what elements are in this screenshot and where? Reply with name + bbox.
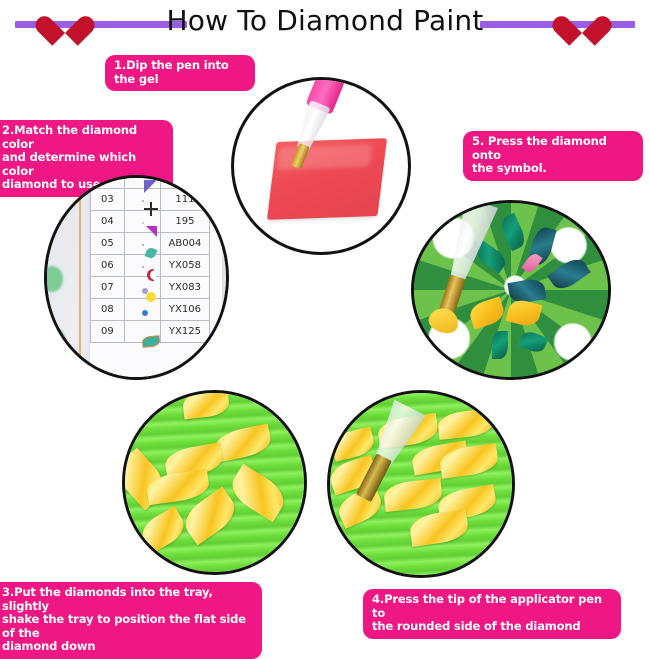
chart-row-code: YX058 — [160, 255, 209, 277]
gem — [506, 297, 543, 328]
chart-margin-rule — [226, 175, 228, 380]
page-header: How To Diamond Paint — [0, 0, 650, 50]
step-5-photo — [411, 200, 611, 380]
table-row: 02093 — [91, 175, 210, 189]
crescent-red-icon — [124, 255, 160, 277]
color-chart-sheet: 02093031110419505AB00406YX05807YX08308YX… — [90, 175, 222, 380]
chart-row-number: 08 — [91, 299, 125, 321]
chart-row-code: YX106 — [160, 299, 209, 321]
chart-row-number: 02 — [91, 175, 125, 189]
chart-row-code: YX083 — [160, 277, 209, 299]
diamond-tray — [122, 390, 307, 575]
chart-row-number: 05 — [91, 233, 125, 255]
chart-row-number: 04 — [91, 211, 125, 233]
color-code-table: 02093031110419505AB00406YX05807YX08308YX… — [90, 175, 210, 343]
diamond — [225, 464, 291, 523]
step-2-photo: 02093031110419505AB00406YX05807YX08308YX… — [44, 175, 229, 380]
dot-yellow-icon — [124, 277, 160, 299]
infographic-canvas: How To Diamond Paint 1.Dip the pen into … — [0, 0, 650, 650]
pen-tip — [291, 143, 310, 169]
step-4-label: 4.Press the tip of the applicator pen to… — [363, 589, 621, 639]
diamond — [182, 390, 230, 419]
step-1-photo — [231, 77, 411, 255]
step-3-label: 3.Put the diamonds into the tray, slight… — [0, 582, 262, 659]
table-row: 09YX125 — [91, 321, 210, 343]
chart-row-number: 06 — [91, 255, 125, 277]
chart-row-number: 07 — [91, 277, 125, 299]
chart-row-code: YX125 — [160, 321, 209, 343]
chart-row-code: AB004 — [160, 233, 209, 255]
diamond — [408, 509, 470, 547]
pen-tip — [356, 453, 392, 502]
chart-margin-rule — [79, 175, 81, 380]
step-3-photo — [122, 390, 307, 575]
held-diamond — [426, 305, 462, 337]
green-blob-icon — [44, 266, 63, 292]
heart-icon — [564, 4, 600, 37]
chart-row-number: 09 — [91, 321, 125, 343]
table-row: 08YX106 — [91, 299, 210, 321]
chart-row-code: 093 — [160, 175, 209, 189]
chart-row-code: 111 — [160, 189, 209, 211]
green-blob-icon — [45, 328, 65, 350]
diamond — [136, 506, 189, 554]
gem — [467, 296, 507, 329]
diamond — [437, 408, 495, 440]
gem — [518, 329, 549, 355]
triangle-violet-icon — [124, 175, 160, 189]
leaf-teal-icon — [124, 321, 160, 343]
triangle-magenta-icon — [124, 211, 160, 233]
step-5-label: 5. Press the diamond onto the symbol. — [463, 131, 643, 181]
gem — [492, 331, 508, 359]
step-4-photo — [327, 390, 515, 578]
chart-row-code: 195 — [160, 211, 209, 233]
chart-row-number: 03 — [91, 189, 125, 211]
gem — [547, 254, 591, 294]
ring-blue-icon — [124, 299, 160, 321]
step-1-label: 1.Dip the pen into the gel — [105, 55, 255, 91]
gem — [498, 213, 529, 251]
